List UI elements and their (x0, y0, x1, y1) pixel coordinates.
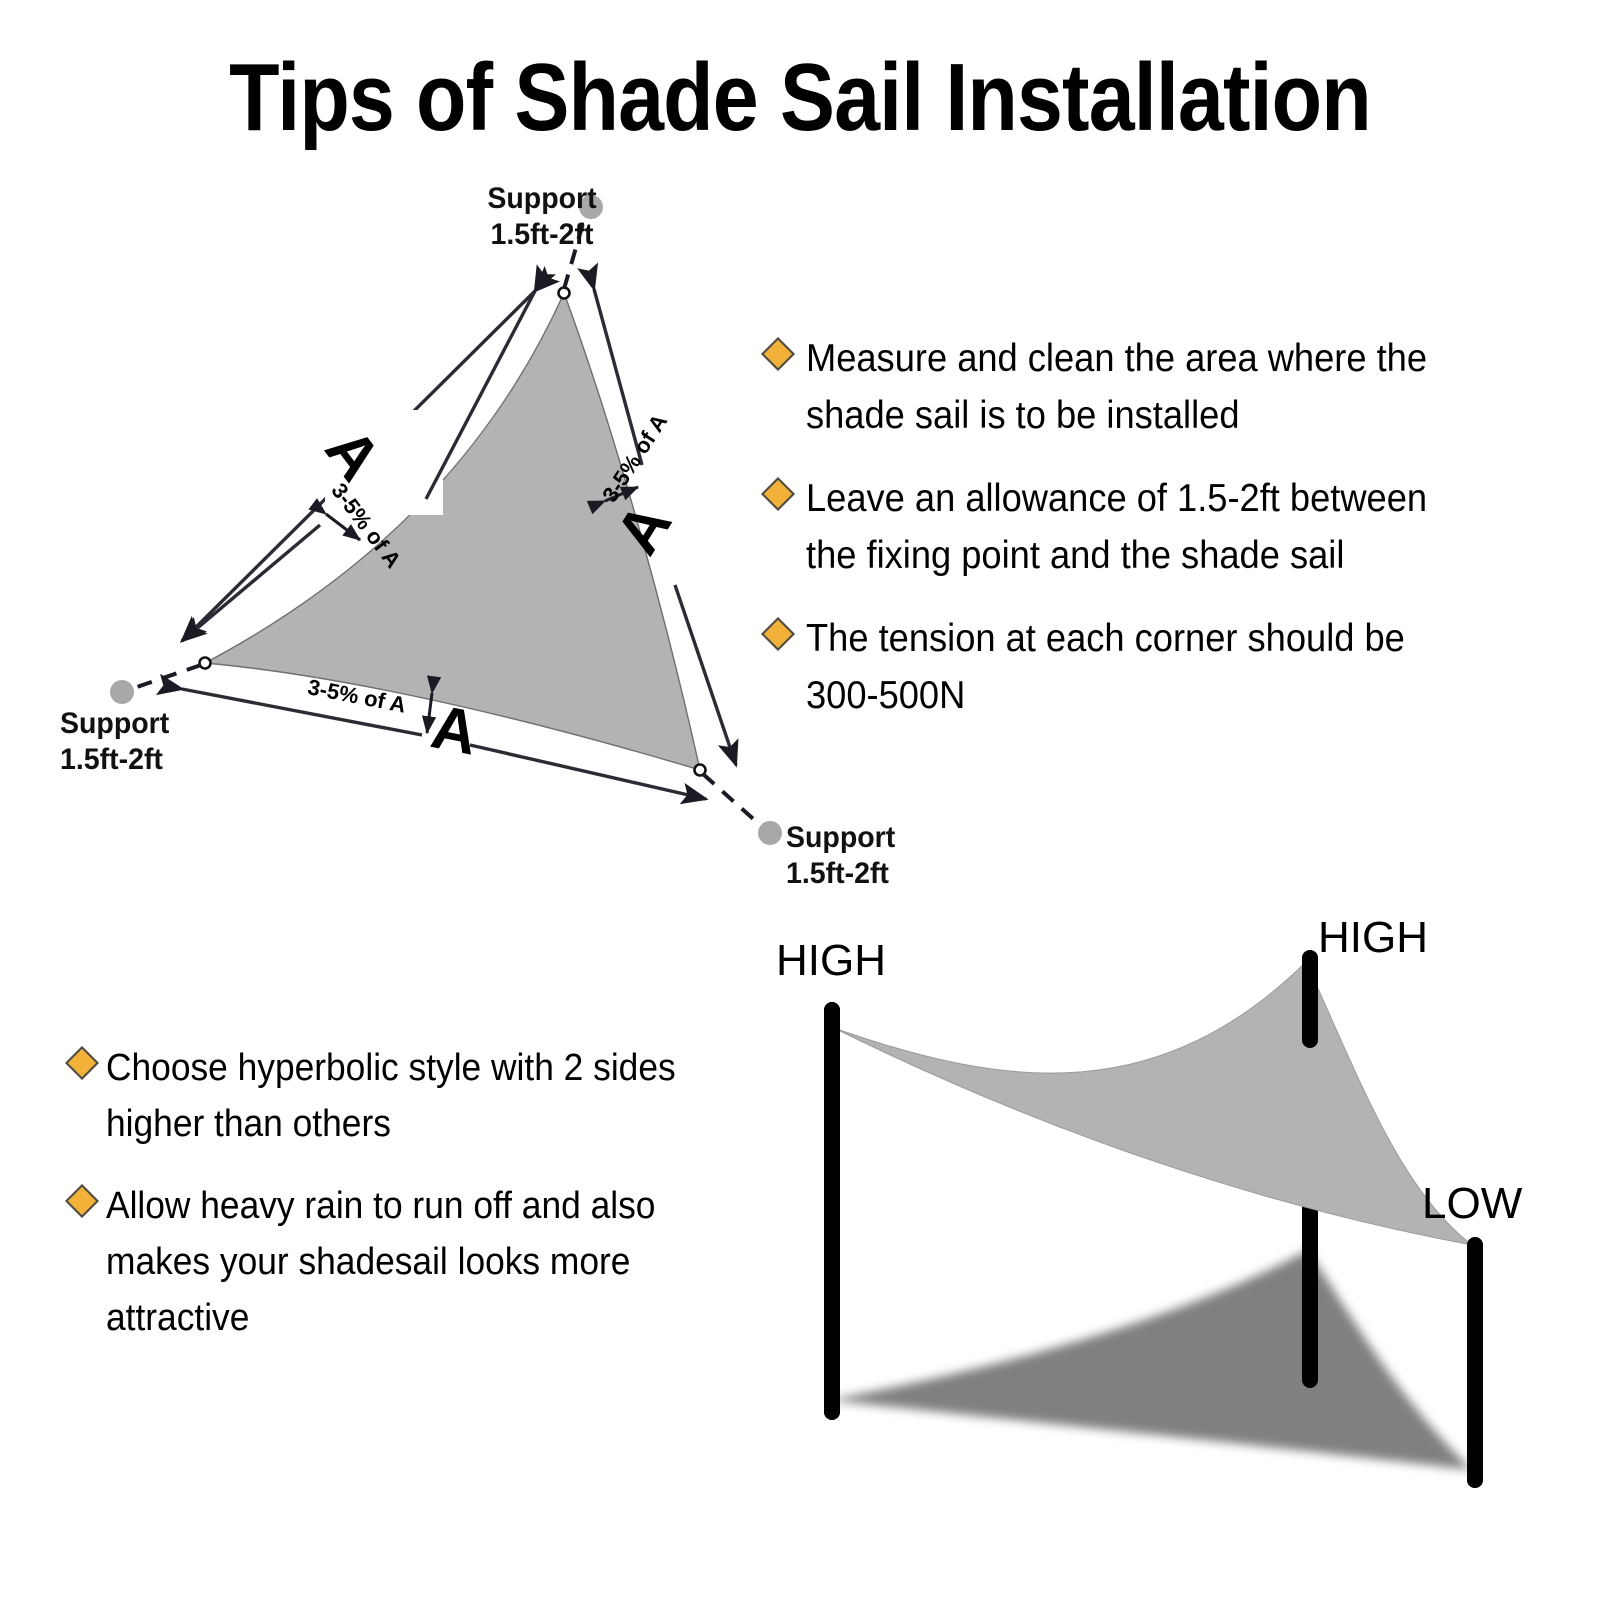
support-label-left: Support 1.5ft-2ft (60, 706, 269, 778)
tip-text: The tension at each corner should be 300… (806, 610, 1476, 724)
list-item: The tension at each corner should be 300… (766, 610, 1526, 724)
tips-list-left: Choose hyperbolic style with 2 sides hig… (70, 1040, 780, 1372)
support-dot-bottom (758, 821, 782, 845)
diamond-bullet-icon (761, 617, 795, 651)
sail-shadow (828, 1250, 1472, 1470)
tip-text: Choose hyperbolic style with 2 sides hig… (106, 1040, 733, 1152)
tip-text: Measure and clean the area where the sha… (806, 330, 1476, 444)
post-label-low: LOW (1422, 1181, 1522, 1227)
diamond-bullet-icon (761, 477, 795, 511)
page-title: Tips of Shade Sail Installation (112, 46, 1488, 150)
list-item: Choose hyperbolic style with 2 sides hig… (70, 1040, 780, 1152)
support-label-top: Support 1.5ft-2ft (447, 181, 637, 253)
list-item: Leave an allowance of 1.5-2ft between th… (766, 470, 1526, 584)
support-leader-left (134, 665, 201, 688)
list-item: Measure and clean the area where the sha… (766, 330, 1526, 444)
diamond-bullet-icon (761, 337, 795, 371)
support-dot-left (110, 680, 134, 704)
support-label-bottom: Support 1.5ft-2ft (786, 820, 995, 892)
tips-list-right: Measure and clean the area where the sha… (766, 330, 1526, 750)
support-leader-bottom (703, 774, 760, 825)
grommet-top (559, 288, 570, 299)
post-label-high-left: HIGH (776, 938, 886, 984)
diamond-bullet-icon (65, 1184, 99, 1218)
post-label-high-right: HIGH (1318, 915, 1428, 961)
diamond-bullet-icon (65, 1046, 99, 1080)
tip-text: Allow heavy rain to run off and also mak… (106, 1178, 733, 1346)
infographic-page: Tips of Shade Sail Installation (0, 0, 1600, 1600)
tip-text: Leave an allowance of 1.5-2ft between th… (806, 470, 1476, 584)
list-item: Allow heavy rain to run off and also mak… (70, 1178, 780, 1346)
hyperbolic-sail-shape (834, 962, 1472, 1245)
